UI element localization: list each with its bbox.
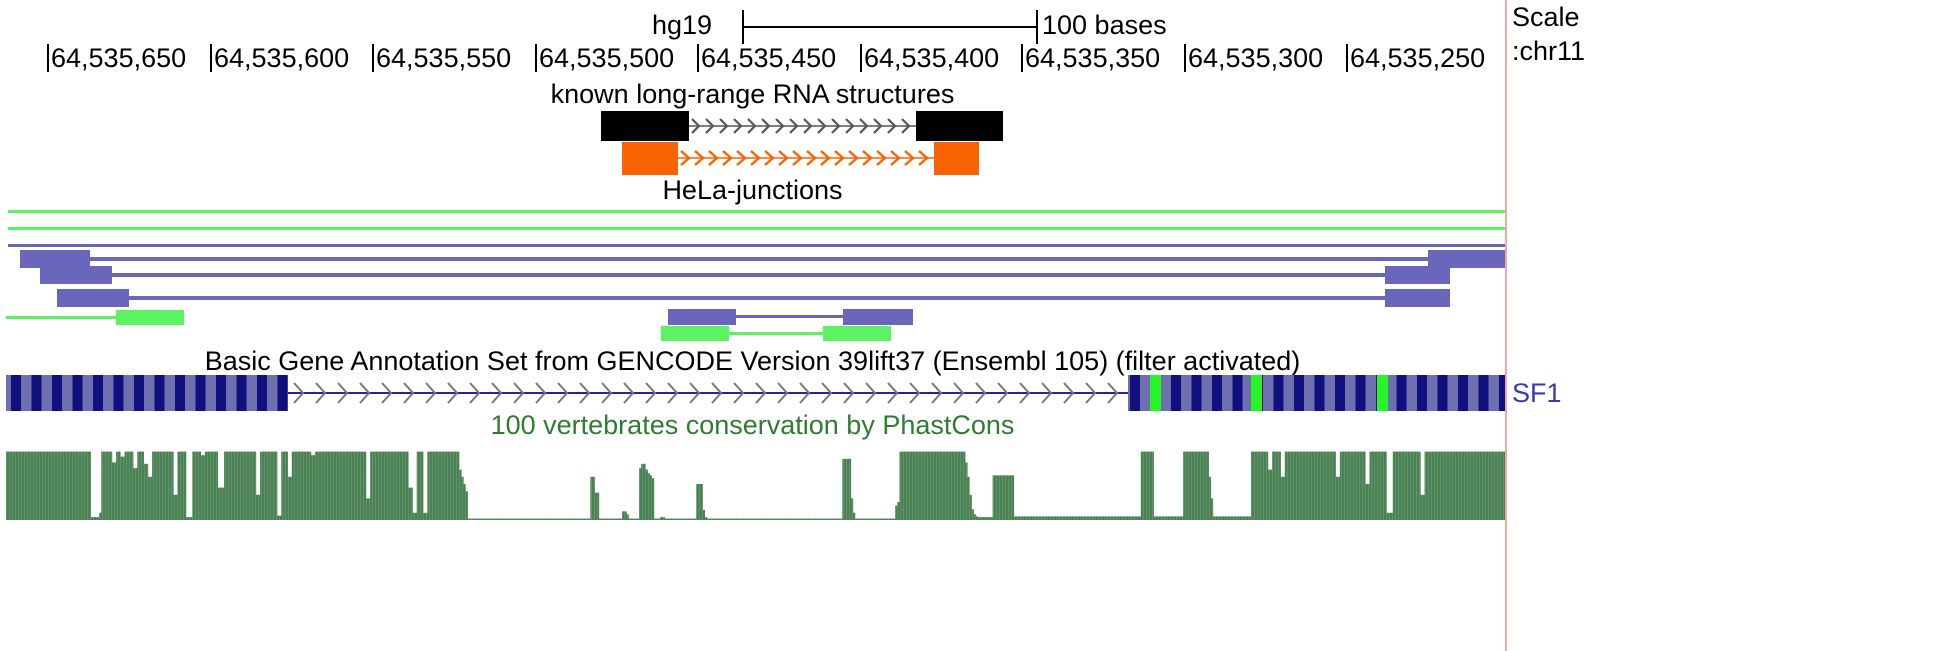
phastcons-grid-line	[582, 448, 583, 520]
phastcons-grid-line	[1440, 448, 1441, 520]
phastcons-grid-line	[1494, 448, 1495, 520]
phastcons-bar	[1151, 452, 1153, 520]
phastcons-grid-line	[1107, 448, 1108, 520]
phastcons-bar	[1281, 477, 1283, 520]
phastcons-grid-line	[1323, 448, 1324, 520]
phastcons-grid-line	[585, 448, 586, 520]
phastcons-grid-line	[1413, 448, 1414, 520]
phastcons-bar	[722, 519, 724, 520]
phastcons-bar	[688, 519, 690, 520]
phastcons-grid-line	[783, 448, 784, 520]
phastcons-bar	[1077, 516, 1079, 520]
phastcons-grid-line	[18, 448, 19, 520]
phastcons-grid-line	[1239, 448, 1240, 520]
phastcons-grid-line	[984, 448, 985, 520]
phastcons-grid-line	[57, 448, 58, 520]
phastcons-bar	[1314, 452, 1316, 520]
phastcons-grid-line	[351, 448, 352, 520]
phastcons-grid-line	[1068, 448, 1069, 520]
phastcons-grid-line	[450, 448, 451, 520]
phastcons-bar	[508, 519, 510, 520]
junction-row-1[interactable]	[8, 210, 1505, 213]
phastcons-grid-line	[1395, 448, 1396, 520]
phastcons-grid-line	[1212, 448, 1213, 520]
phastcons-grid-line	[1059, 448, 1060, 520]
phastcons-grid-line	[1389, 448, 1390, 520]
phastcons-bar	[1226, 516, 1228, 520]
phastcons-bar	[415, 513, 417, 520]
phastcons-grid-line	[1365, 448, 1366, 520]
phastcons-grid-line	[849, 448, 850, 520]
phastcons-bar	[76, 452, 78, 520]
phastcons-grid-line	[1260, 448, 1261, 520]
phastcons-grid-line	[1119, 448, 1120, 520]
phastcons-bar	[1120, 516, 1122, 520]
phastcons-grid-line	[1407, 448, 1408, 520]
phastcons-grid-line	[942, 448, 943, 520]
phastcons-grid-line	[1482, 448, 1483, 520]
phastcons-bar	[271, 452, 273, 520]
phastcons-bar	[1437, 452, 1439, 520]
phastcons-bar	[501, 519, 503, 520]
phastcons-bar	[1029, 516, 1031, 520]
phastcons-bar	[940, 452, 942, 520]
phastcons-bar	[1355, 452, 1357, 520]
phastcons-grid-line	[531, 448, 532, 520]
phastcons-bar	[1041, 516, 1043, 520]
phastcons-bar	[1185, 452, 1187, 520]
phastcons-grid-line	[993, 448, 994, 520]
phastcons-bar	[180, 452, 182, 520]
phastcons-grid-line	[345, 448, 346, 520]
phastcons-grid-line	[525, 448, 526, 520]
phastcons-bar	[324, 452, 326, 520]
phastcons-bar	[429, 452, 431, 520]
phastcons-grid-line	[363, 448, 364, 520]
phastcons-grid-line	[132, 448, 133, 520]
phastcons-grid-line	[714, 448, 715, 520]
phastcons-grid-line	[87, 448, 88, 520]
phastcons-grid-line	[126, 448, 127, 520]
junction-row-2[interactable]	[8, 227, 1505, 230]
phastcons-bar	[1262, 452, 1264, 520]
phastcons-grid-line	[303, 448, 304, 520]
phastcons-grid-line	[1254, 448, 1255, 520]
phastcons-grid-line	[1233, 448, 1234, 520]
phastcons-grid-line	[1293, 448, 1294, 520]
phastcons-grid-line	[1455, 448, 1456, 520]
phastcons-grid-line	[528, 448, 529, 520]
phastcons-grid-line	[1236, 448, 1237, 520]
phastcons-bar	[1063, 516, 1065, 520]
phastcons-grid-line	[546, 448, 547, 520]
phastcons-grid-line	[147, 448, 148, 520]
phastcons-grid-line	[1485, 448, 1486, 520]
phastcons-grid-line	[1314, 448, 1315, 520]
phastcons-grid-line	[939, 448, 940, 520]
phastcons-grid-line	[654, 448, 655, 520]
phastcons-grid-line	[807, 448, 808, 520]
phastcons-grid-line	[1398, 448, 1399, 520]
phastcons-grid-line	[285, 448, 286, 520]
phastcons-grid-line	[1473, 448, 1474, 520]
junction-row-5-left-exon	[40, 266, 112, 284]
phastcons-grid-line	[300, 448, 301, 520]
phastcons-grid-line	[741, 448, 742, 520]
phastcons-grid-line	[618, 448, 619, 520]
phastcons-bar	[537, 519, 539, 520]
phastcons-grid-line	[855, 448, 856, 520]
phastcons-bar	[789, 519, 791, 520]
phastcons-grid-line	[576, 448, 577, 520]
phastcons-grid-line	[672, 448, 673, 520]
phastcons-grid-line	[927, 448, 928, 520]
phastcons-bar	[50, 452, 52, 520]
phastcons-grid-line	[1359, 448, 1360, 520]
phastcons-grid-line	[660, 448, 661, 520]
phastcons-bar	[1422, 495, 1424, 520]
phastcons-grid-line	[1140, 448, 1141, 520]
phastcons-bar	[609, 519, 611, 520]
phastcons-grid-line	[1179, 448, 1180, 520]
phastcons-grid-line	[321, 448, 322, 520]
phastcons-grid-line	[1020, 448, 1021, 520]
phastcons-grid-line	[1083, 448, 1084, 520]
phastcons-bar	[34, 452, 36, 520]
phastcons-bar	[364, 452, 366, 520]
phastcons-bar	[163, 452, 165, 520]
phastcons-bar	[1027, 516, 1029, 520]
phastcons-grid-line	[567, 448, 568, 520]
phastcons-grid-line	[1191, 448, 1192, 520]
phastcons-grid-line	[6, 448, 7, 520]
phastcons-grid-line	[987, 448, 988, 520]
phastcons-grid-line	[297, 448, 298, 520]
phastcons-bar	[40, 452, 42, 520]
phastcons-grid-line	[918, 448, 919, 520]
phastcons-grid-line	[933, 448, 934, 520]
phastcons-bar	[410, 488, 412, 520]
phastcons-grid-line	[834, 448, 835, 520]
phastcons-bar	[756, 519, 758, 520]
phastcons-bar	[1353, 452, 1355, 520]
phastcons-bar	[933, 452, 935, 520]
phastcons-grid-line	[756, 448, 757, 520]
phastcons-grid-line	[432, 448, 433, 520]
phastcons-bar	[182, 452, 184, 520]
phastcons-grid-line	[1209, 448, 1210, 520]
phastcons-grid-line	[924, 448, 925, 520]
phastcons-grid-line	[1176, 448, 1177, 520]
phastcons-grid-line	[516, 448, 517, 520]
phastcons-bar	[292, 452, 294, 520]
phastcons-grid-line	[627, 448, 628, 520]
phastcons-bar	[1278, 452, 1280, 520]
phastcons-bar	[328, 452, 330, 520]
phastcons-grid-line	[561, 448, 562, 520]
phastcons-grid-line	[1332, 448, 1333, 520]
phastcons-grid-line	[1434, 448, 1435, 520]
phastcons-grid-line	[837, 448, 838, 520]
ruler-tick-7	[1184, 44, 1186, 72]
phastcons-bar	[1187, 452, 1189, 520]
phastcons-grid-line	[1194, 448, 1195, 520]
phastcons-grid-line	[879, 448, 880, 520]
exon-stripes	[6, 375, 288, 411]
phastcons-grid-line	[333, 448, 334, 520]
phastcons-grid-line	[1080, 448, 1081, 520]
phastcons-grid-line	[639, 448, 640, 520]
phastcons-bar	[1247, 516, 1249, 520]
phastcons-grid-line	[1362, 448, 1363, 520]
phastcons-bar	[1257, 452, 1259, 520]
phastcons-bar	[1141, 452, 1143, 520]
phastcons-bar	[1211, 498, 1213, 520]
junction-row-9-left-exon	[661, 326, 729, 341]
phastcons-grid-line	[513, 448, 514, 520]
phastcons-grid-line	[723, 448, 724, 520]
phastcons-grid-line	[84, 448, 85, 520]
gene-label-sf1[interactable]: SF1	[1512, 378, 1562, 408]
phastcons-bar	[396, 452, 398, 520]
phastcons-grid-line	[1461, 448, 1462, 520]
phastcons-grid-line	[636, 448, 637, 520]
phastcons-conservation-chart[interactable]	[6, 448, 1505, 520]
phastcons-bar	[343, 452, 345, 520]
phastcons-bar	[480, 519, 482, 520]
junction-row-3[interactable]	[8, 244, 1505, 247]
phastcons-bar	[321, 452, 323, 520]
phastcons-bar	[827, 519, 829, 520]
phastcons-grid-line	[354, 448, 355, 520]
phastcons-bar	[302, 452, 304, 520]
rna-structure-black-right-exon	[916, 111, 1003, 141]
phastcons-bar	[631, 519, 633, 520]
phastcons-grid-line	[900, 448, 901, 520]
phastcons-grid-line	[453, 448, 454, 520]
phastcons-bar	[228, 452, 230, 520]
phastcons-bar	[861, 519, 863, 520]
phastcons-bar	[724, 519, 726, 520]
phastcons-bar	[612, 519, 614, 520]
phastcons-bar	[1031, 516, 1033, 520]
phastcons-bar	[307, 452, 309, 520]
phastcons-bar	[146, 464, 148, 520]
phastcons-bar	[218, 488, 220, 520]
phastcons-bar	[84, 452, 86, 520]
rna-structure-orange-left-exon	[622, 142, 678, 175]
phastcons-grid-line	[237, 448, 238, 520]
phastcons-grid-line	[99, 448, 100, 520]
side-label-scale: Scale	[1512, 2, 1580, 32]
phastcons-bar	[451, 452, 453, 520]
phastcons-grid-line	[249, 448, 250, 520]
phastcons-grid-line	[711, 448, 712, 520]
junction-row-6-left-exon	[57, 289, 129, 307]
phastcons-grid-line	[537, 448, 538, 520]
phastcons-grid-line	[1437, 448, 1438, 520]
ruler-coordinate-label: 64,535,400	[864, 44, 999, 72]
phastcons-grid-line	[1071, 448, 1072, 520]
phastcons-grid-line	[1101, 448, 1102, 520]
phastcons-grid-line	[1353, 448, 1354, 520]
phastcons-grid-line	[843, 448, 844, 520]
phastcons-grid-line	[969, 448, 970, 520]
phastcons-bar	[230, 452, 232, 520]
phastcons-grid-line	[378, 448, 379, 520]
phastcons-grid-line	[1224, 448, 1225, 520]
phastcons-grid-line	[750, 448, 751, 520]
phastcons-bar	[1156, 516, 1158, 520]
phastcons-bar	[889, 519, 891, 520]
phastcons-grid-line	[171, 448, 172, 520]
phastcons-grid-line	[60, 448, 61, 520]
phastcons-bar	[1458, 452, 1460, 520]
phastcons-grid-line	[420, 448, 421, 520]
phastcons-grid-line	[555, 448, 556, 520]
phastcons-bar	[470, 519, 472, 520]
phastcons-bar	[142, 452, 144, 520]
phastcons-grid-line	[1137, 448, 1138, 520]
phastcons-bar	[374, 452, 376, 520]
phastcons-bar	[1331, 452, 1333, 520]
phastcons-grid-line	[690, 448, 691, 520]
junction-row-9-right-exon	[823, 326, 891, 341]
phastcons-bar	[1386, 513, 1388, 520]
phastcons-bar	[1223, 516, 1225, 520]
phastcons-grid-line	[1005, 448, 1006, 520]
phastcons-bar	[1425, 452, 1427, 520]
phastcons-grid-line	[1476, 448, 1477, 520]
side-label-chrom: :chr11	[1512, 36, 1585, 66]
phastcons-grid-line	[1182, 448, 1183, 520]
phastcons-grid-line	[156, 448, 157, 520]
assembly-label: hg19	[652, 10, 712, 40]
phastcons-bar	[1295, 452, 1297, 520]
phastcons-grid-line	[666, 448, 667, 520]
phastcons-grid-line	[1287, 448, 1288, 520]
phastcons-grid-line	[774, 448, 775, 520]
cds-start-mark	[1150, 375, 1161, 411]
phastcons-grid-line	[1053, 448, 1054, 520]
phastcons-grid-line	[240, 448, 241, 520]
phastcons-bar	[178, 452, 180, 520]
phastcons-grid-line	[786, 448, 787, 520]
phastcons-grid-line	[183, 448, 184, 520]
phastcons-grid-line	[1284, 448, 1285, 520]
phastcons-grid-line	[633, 448, 634, 520]
phastcons-grid-line	[1185, 448, 1186, 520]
phastcons-grid-line	[960, 448, 961, 520]
phastcons-bar	[1082, 516, 1084, 520]
phastcons-grid-line	[261, 448, 262, 520]
rna-structure-black-intron-arrows	[689, 111, 916, 141]
phastcons-bar	[379, 452, 381, 520]
phastcons-grid-line	[615, 448, 616, 520]
phastcons-grid-line	[573, 448, 574, 520]
phastcons-grid-line	[1122, 448, 1123, 520]
phastcons-bar	[969, 495, 971, 520]
phastcons-bar	[1393, 452, 1395, 520]
phastcons-bar	[194, 452, 196, 520]
phastcons-bar	[1401, 452, 1403, 520]
phastcons-grid-line	[252, 448, 253, 520]
phastcons-grid-line	[90, 448, 91, 520]
phastcons-bar	[1113, 516, 1115, 520]
phastcons-grid-line	[189, 448, 190, 520]
phastcons-bar	[955, 452, 957, 520]
phastcons-grid-line	[519, 448, 520, 520]
phastcons-bar	[760, 519, 762, 520]
phastcons-grid-line	[135, 448, 136, 520]
phastcons-grid-line	[738, 448, 739, 520]
phastcons-grid-line	[1299, 448, 1300, 520]
phastcons-grid-line	[975, 448, 976, 520]
phastcons-grid-line	[369, 448, 370, 520]
phastcons-grid-line	[336, 448, 337, 520]
phastcons-grid-line	[624, 448, 625, 520]
phastcons-grid-line	[1044, 448, 1045, 520]
phastcons-grid-line	[315, 448, 316, 520]
phastcons-bar	[127, 452, 129, 520]
phastcons-grid-line	[474, 448, 475, 520]
phastcons-grid-line	[1251, 448, 1252, 520]
phastcons-grid-line	[1041, 448, 1042, 520]
phastcons-grid-line	[1305, 448, 1306, 520]
phastcons-grid-line	[1092, 448, 1093, 520]
phastcons-bar	[681, 519, 683, 520]
phastcons-grid-line	[1047, 448, 1048, 520]
phastcons-grid-line	[228, 448, 229, 520]
phastcons-grid-line	[1173, 448, 1174, 520]
phastcons-bar	[400, 452, 402, 520]
phastcons-grid-line	[870, 448, 871, 520]
phastcons-grid-line	[762, 448, 763, 520]
phastcons-bar	[360, 452, 362, 520]
phastcons-bar	[341, 452, 343, 520]
phastcons-grid-line	[456, 448, 457, 520]
phastcons-grid-line	[1341, 448, 1342, 520]
view-edge-line	[1505, 0, 1507, 651]
phastcons-grid-line	[204, 448, 205, 520]
phastcons-bar	[959, 452, 961, 520]
gencode-left-exon-block	[6, 375, 288, 411]
phastcons-grid-line	[972, 448, 973, 520]
phastcons-grid-line	[1167, 448, 1168, 520]
junction-row-6-intron	[57, 296, 1450, 300]
phastcons-bar	[326, 452, 328, 520]
phastcons-grid-line	[999, 448, 1000, 520]
phastcons-grid-line	[1428, 448, 1429, 520]
phastcons-grid-line	[327, 448, 328, 520]
phastcons-grid-line	[825, 448, 826, 520]
phastcons-grid-line	[549, 448, 550, 520]
phastcons-grid-line	[234, 448, 235, 520]
phastcons-grid-line	[579, 448, 580, 520]
phastcons-bar	[506, 519, 508, 520]
phastcons-bar	[1391, 513, 1393, 520]
phastcons-grid-line	[375, 448, 376, 520]
phastcons-bar	[1499, 452, 1501, 520]
phastcons-grid-line	[1188, 448, 1189, 520]
phastcons-bar	[720, 519, 722, 520]
phastcons-grid-line	[1443, 448, 1444, 520]
phastcons-grid-line	[978, 448, 979, 520]
phastcons-bar	[853, 513, 855, 520]
phastcons-grid-line	[1248, 448, 1249, 520]
phastcons-bar	[285, 452, 287, 520]
phastcons-bar	[1463, 452, 1465, 520]
